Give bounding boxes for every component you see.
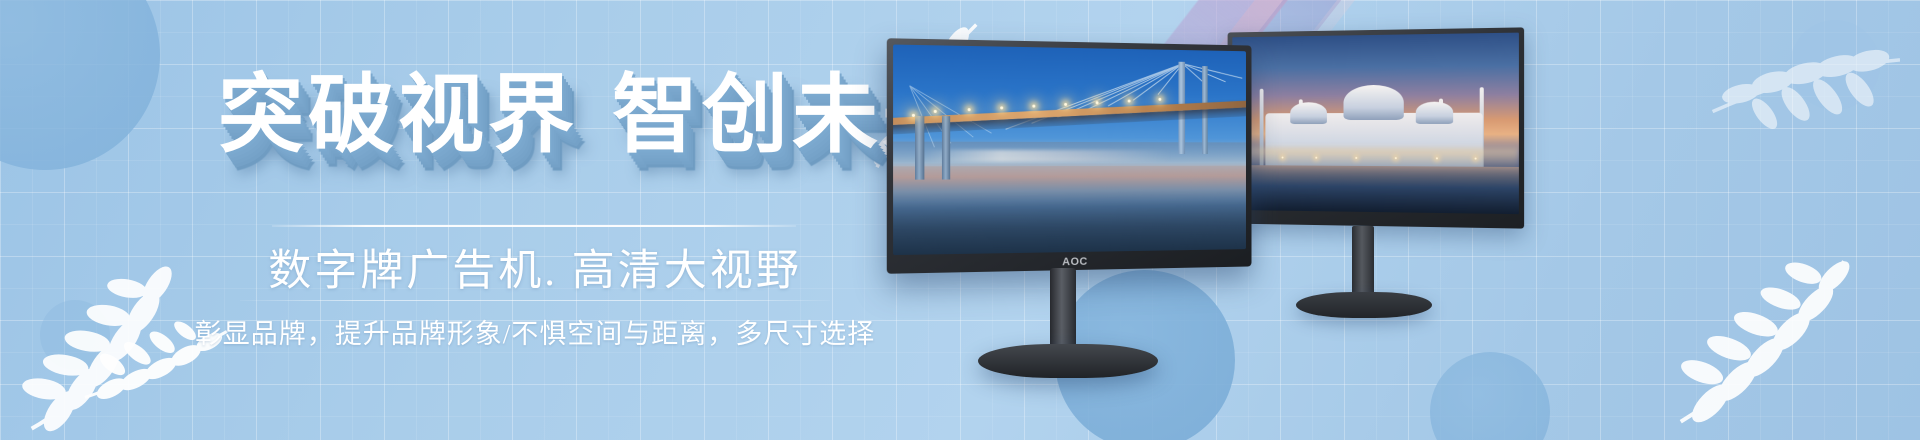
headline-part-1: 突破视界 <box>218 67 578 163</box>
monitor-front-stand-neck <box>1050 268 1076 354</box>
monitor-front-stand-base <box>978 344 1158 378</box>
product-monitors: AOC <box>880 0 1920 440</box>
monitor-front-bezel: AOC <box>887 38 1252 274</box>
banner-text-block: 突破视界智创未来 数字牌广告机. 高清大视野 彰显品牌，提升品牌形象/不惧空间与… <box>0 0 900 440</box>
promo-banner: 突破视界智创未来 数字牌广告机. 高清大视野 彰显品牌，提升品牌形象/不惧空间与… <box>0 0 1920 440</box>
banner-headline: 突破视界智创未来 <box>218 72 972 158</box>
monitor-rear-stand-neck <box>1352 226 1374 298</box>
monitor-front-screen <box>893 45 1246 256</box>
subheading-divider <box>240 300 830 301</box>
headline-divider <box>272 225 796 227</box>
bridge-scene-image <box>893 45 1246 256</box>
monitor-front: AOC <box>890 42 1280 382</box>
monitor-rear-stand-base <box>1296 292 1432 318</box>
